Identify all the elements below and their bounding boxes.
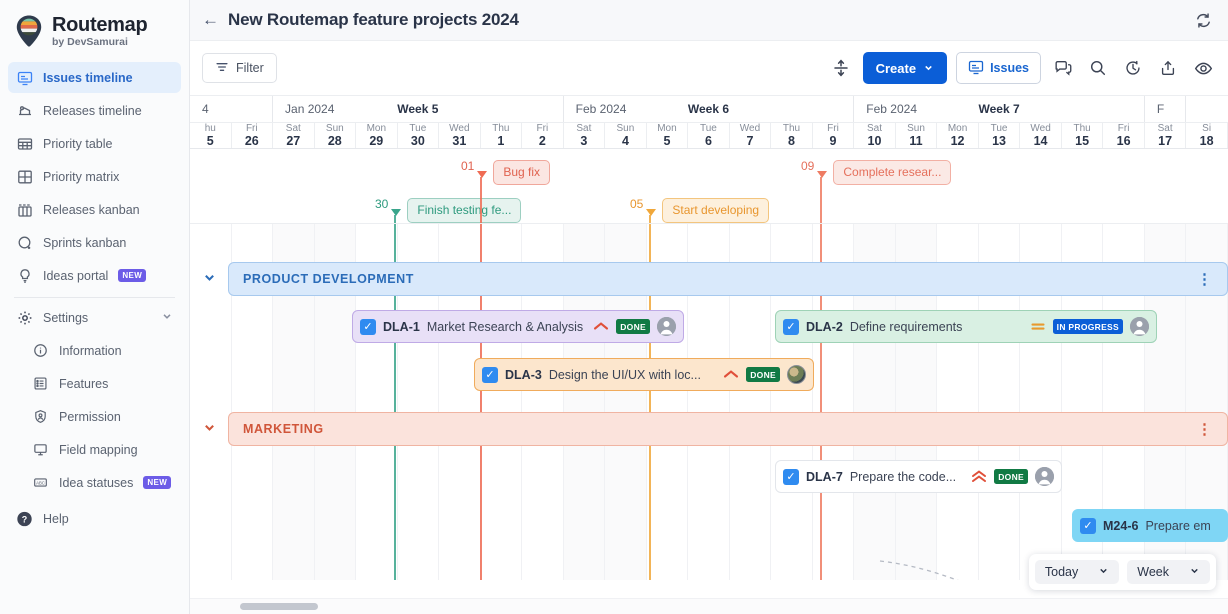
sync-icon[interactable] — [1190, 7, 1216, 33]
settings-subnav: Information Features Permission — [0, 335, 189, 498]
sidebar-help-section: ? Help — [0, 501, 189, 536]
task-summary: Prepare the code... — [850, 470, 956, 484]
task-checkbox-icon[interactable]: ✓ — [783, 469, 799, 485]
more-vertical-icon[interactable]: ⋮ — [1197, 270, 1213, 288]
day-number: 18 — [1200, 134, 1214, 148]
task-summary: Prepare em — [1145, 519, 1210, 533]
search-icon[interactable] — [1085, 55, 1111, 81]
fit-vertical-icon[interactable] — [828, 55, 854, 81]
day-of-week: Fri — [537, 123, 549, 135]
status-badge: DONE — [746, 367, 780, 382]
day-number: 26 — [245, 134, 259, 148]
day-number: 31 — [452, 134, 466, 148]
sidebar-item-label: Permission — [59, 410, 121, 424]
sidebar-item-information[interactable]: Information — [24, 335, 181, 366]
milestone-triangle-icon — [646, 209, 656, 216]
task-summary: Market Research & Analysis — [427, 320, 583, 334]
day-number: 6 — [705, 134, 712, 148]
avatar[interactable] — [1130, 317, 1149, 336]
timeline-day-cell[interactable]: Tue6 — [688, 123, 730, 148]
timeline-day-cell[interactable]: Thu15 — [1062, 123, 1104, 148]
timeline-day-cell[interactable]: Fri16 — [1103, 123, 1145, 148]
today-dropdown[interactable]: Today — [1035, 560, 1119, 584]
day-number: 11 — [909, 134, 922, 148]
status-badge: DONE — [616, 319, 650, 334]
day-of-week: Thu — [492, 123, 509, 135]
day-of-week: Sun — [907, 123, 925, 135]
page-title: New Routemap feature projects 2024 — [228, 10, 519, 30]
task-bar[interactable]: ✓DLA-3Design the UI/UX with loc...DONE — [474, 358, 814, 391]
timeline-day-cell[interactable]: Wed14 — [1020, 123, 1062, 148]
day-of-week: Sat — [576, 123, 591, 135]
timeline-month-cell: 4 — [190, 96, 273, 122]
day-number: 27 — [286, 134, 300, 148]
day-of-week: Wed — [1030, 123, 1050, 135]
day-number: 7 — [746, 134, 753, 148]
sprint-icon — [16, 234, 33, 251]
brand-subtitle: by DevSamurai — [52, 37, 147, 48]
timeline-day-cell[interactable]: Tue30 — [398, 123, 440, 148]
milestone-day: 01 — [461, 160, 474, 172]
day-number: 15 — [1075, 134, 1089, 148]
create-button[interactable]: Create — [863, 52, 947, 84]
sidebar-item-label: Priority matrix — [43, 170, 119, 184]
day-of-week: Mon — [657, 123, 676, 135]
day-number: 1 — [497, 134, 504, 148]
features-list-icon — [32, 375, 49, 392]
sidebar-item-label: Ideas portal — [43, 269, 108, 283]
today-label: Today — [1045, 565, 1078, 579]
day-of-week: hu — [205, 123, 216, 135]
day-number: 29 — [369, 134, 383, 148]
sidebar-item-field-mapping[interactable]: Field mapping — [24, 434, 181, 465]
toolbar: Filter Create — [190, 41, 1228, 96]
sidebar-item-ideas-portal[interactable]: Ideas portal NEW — [8, 260, 181, 291]
toolbar-right: Create Issues — [828, 52, 1216, 84]
day-of-week: Sun — [326, 123, 344, 135]
svg-text:ABC: ABC — [36, 480, 45, 485]
matrix-icon — [16, 168, 33, 185]
zoom-dropdown[interactable]: Week — [1127, 560, 1210, 584]
timeline-day-cell[interactable]: Si18 — [1186, 123, 1228, 148]
filter-button[interactable]: Filter — [202, 53, 277, 83]
milestone-chip[interactable]: Start developing — [662, 198, 769, 223]
timeline-day-cell[interactable]: hu5 — [190, 123, 232, 148]
day-number: 10 — [868, 134, 882, 148]
week-label: Week 6 — [564, 102, 854, 116]
help-circle-icon: ? — [16, 510, 33, 527]
sidebar-item-label: Help — [43, 512, 69, 526]
timeline-day-cell[interactable]: Fri9 — [813, 123, 855, 148]
milestone-marker[interactable]: 05Start developing — [630, 198, 769, 223]
month-label: 4 — [202, 102, 209, 116]
timeline-month-cell: Jan 2024Week 5 — [273, 96, 564, 122]
issues-board-icon — [968, 59, 984, 78]
day-of-week: Fri — [1118, 123, 1130, 135]
chevron-down-icon — [161, 310, 173, 325]
day-number: 8 — [788, 134, 795, 148]
chevron-down-icon — [1189, 565, 1200, 579]
sidebar: Routemap by DevSamurai Issues timeline — [0, 0, 190, 614]
task-key: M24-6 — [1103, 519, 1138, 533]
sidebar-item-features[interactable]: Features — [24, 368, 181, 399]
issues-button[interactable]: Issues — [956, 52, 1041, 84]
app-root: Routemap by DevSamurai Issues timeline — [0, 0, 1228, 614]
svg-text:?: ? — [22, 514, 27, 524]
share-icon[interactable] — [1155, 55, 1181, 81]
filter-label: Filter — [236, 61, 264, 75]
chevron-down-icon[interactable] — [190, 421, 228, 437]
timeline-day-cell[interactable]: Sat10 — [854, 123, 896, 148]
chevron-down-icon[interactable] — [190, 271, 228, 287]
sidebar-item-label: Settings — [43, 311, 88, 325]
day-number: 12 — [951, 134, 965, 148]
day-number: 4 — [622, 134, 629, 148]
high-priority-icon — [593, 321, 609, 332]
day-number: 28 — [328, 134, 342, 148]
sidebar-item-label: Releases kanban — [43, 203, 140, 217]
day-of-week: Sat — [867, 123, 882, 135]
scrollbar-thumb[interactable] — [240, 603, 318, 610]
sidebar-nav: Issues timeline Releases timeline Priori… — [0, 62, 189, 498]
sidebar-item-label: Releases timeline — [43, 104, 142, 118]
milestone-triangle-icon — [817, 171, 827, 178]
timeline-month-cell: Feb 2024Week 6 — [564, 96, 855, 122]
sidebar-item-label: Priority table — [43, 137, 112, 151]
timeline-day-cell[interactable]: Sun4 — [605, 123, 647, 148]
timeline-day-cell[interactable]: Fri26 — [232, 123, 274, 148]
timeline-day-cell[interactable]: Sun11 — [896, 123, 938, 148]
day-of-week: Tue — [700, 123, 717, 135]
task-bar[interactable]: ✓M24-6Prepare em — [1072, 509, 1228, 542]
task-checkbox-icon[interactable]: ✓ — [1080, 518, 1096, 534]
day-of-week: Mon — [367, 123, 386, 135]
day-of-week: Si — [1202, 123, 1211, 135]
milestone-chip[interactable]: Finish testing fe... — [407, 198, 521, 223]
day-number: 17 — [1158, 134, 1172, 148]
milestone-day: 30 — [375, 198, 388, 210]
day-of-week: Wed — [740, 123, 760, 135]
task-checkbox-icon[interactable]: ✓ — [482, 367, 498, 383]
day-number: 30 — [411, 134, 425, 148]
comment-icon[interactable] — [1050, 55, 1076, 81]
sidebar-item-permission[interactable]: Permission — [24, 401, 181, 432]
info-icon — [32, 342, 49, 359]
group-name: MARKETING — [243, 422, 324, 436]
group-name: PRODUCT DEVELOPMENT — [243, 272, 414, 286]
create-label: Create — [876, 61, 916, 76]
milestone-marker[interactable]: 09Complete resear... — [801, 160, 951, 185]
sidebar-item-releases-timeline[interactable]: Releases timeline — [8, 95, 181, 126]
day-of-week: Fri — [246, 123, 258, 135]
timeline-day-cell[interactable]: Sat3 — [564, 123, 606, 148]
timeline-day-cell[interactable]: Wed31 — [439, 123, 481, 148]
task-bar[interactable]: ✓DLA-1Market Research & AnalysisDONE — [352, 310, 684, 343]
milestone-day: 09 — [801, 160, 814, 172]
main-panel: ← New Routemap feature projects 2024 Fil… — [190, 0, 1228, 614]
avatar[interactable] — [787, 365, 806, 384]
day-number: 13 — [992, 134, 1006, 148]
filter-icon — [215, 60, 229, 77]
avatar[interactable] — [657, 317, 676, 336]
sidebar-item-label: Field mapping — [59, 443, 138, 457]
milestone-chip[interactable]: Complete resear... — [833, 160, 951, 185]
sidebar-item-label: Issues timeline — [43, 71, 133, 85]
monitor-icon — [32, 441, 49, 458]
back-arrow-icon[interactable]: ← — [202, 10, 228, 30]
milestone-triangle-icon — [391, 209, 401, 216]
task-summary: Define requirements — [850, 320, 963, 334]
timeline-header: 4Jan 2024Week 5Feb 2024Week 6Feb 2024Wee… — [190, 96, 1228, 149]
group-bar[interactable]: MARKETING⋮ — [228, 412, 1228, 446]
timeline-day-cell[interactable]: Sun28 — [315, 123, 357, 148]
kanban-icon — [16, 201, 33, 218]
day-of-week: Wed — [449, 123, 469, 135]
shield-user-icon — [32, 408, 49, 425]
high-priority-icon — [723, 369, 739, 380]
day-of-week: Sat — [286, 123, 301, 135]
sidebar-item-help[interactable]: ? Help — [8, 503, 181, 534]
gantt-chart: s ... PRODUCT DEVELOPMENT⋮MARKETING⋮ ✓DL… — [190, 224, 1228, 580]
timeline-day-cell[interactable]: Tue13 — [979, 123, 1021, 148]
history-icon[interactable] — [1120, 55, 1146, 81]
milestone-line — [480, 177, 482, 223]
lightbulb-icon — [16, 267, 33, 284]
task-key: DLA-2 — [806, 320, 843, 334]
timeline-day-cell[interactable]: Mon29 — [356, 123, 398, 148]
timeline-month-cell: Feb 2024Week 7 — [854, 96, 1145, 122]
task-key: DLA-3 — [505, 368, 542, 382]
day-number: 5 — [207, 134, 214, 148]
group-bar[interactable]: PRODUCT DEVELOPMENT⋮ — [228, 262, 1228, 296]
month-label: F — [1157, 102, 1164, 116]
task-summary: Design the UI/UX with loc... — [549, 368, 701, 382]
day-of-week: Thu — [783, 123, 800, 135]
milestone-marker[interactable]: 01Bug fix — [461, 160, 550, 185]
abc-icon: ABC — [32, 474, 49, 491]
week-label: Week 5 — [273, 102, 563, 116]
task-key: DLA-7 — [806, 470, 843, 484]
day-of-week: Tue — [409, 123, 426, 135]
timeline-day-cell[interactable]: Mon12 — [937, 123, 979, 148]
task-key: DLA-1 — [383, 320, 420, 334]
day-number: 5 — [663, 134, 670, 148]
sidebar-item-label: Sprints kanban — [43, 236, 126, 250]
timeline-day-cell[interactable]: Sat17 — [1145, 123, 1187, 148]
sidebar-item-sprints-kanban[interactable]: Sprints kanban — [8, 227, 181, 258]
sidebar-divider — [14, 297, 175, 298]
timeline-day-cell[interactable]: Fri2 — [522, 123, 564, 148]
sidebar-item-label: Information — [59, 344, 122, 358]
horizontal-scrollbar[interactable] — [190, 598, 1228, 614]
timeline-day-row: hu5Fri26Sat27Sun28Mon29Tue30Wed31Thu1Fri… — [190, 123, 1228, 148]
more-vertical-icon[interactable]: ⋮ — [1197, 420, 1213, 438]
day-of-week: Tue — [991, 123, 1008, 135]
sidebar-item-priority-table[interactable]: Priority table — [8, 128, 181, 159]
new-badge: NEW — [143, 476, 171, 489]
sidebar-item-issues-timeline[interactable]: Issues timeline — [8, 62, 181, 93]
day-of-week: Sat — [1158, 123, 1173, 135]
zoom-label: Week — [1137, 565, 1169, 579]
timeline-day-cell[interactable]: Sat27 — [273, 123, 315, 148]
day-number: 16 — [1117, 134, 1131, 148]
day-of-week: Thu — [1073, 123, 1090, 135]
status-badge: IN PROGRESS — [1053, 319, 1123, 334]
timeline-day-cell[interactable]: Wed7 — [730, 123, 772, 148]
sidebar-item-releases-kanban[interactable]: Releases kanban — [8, 194, 181, 225]
day-number: 9 — [830, 134, 837, 148]
bottom-controls: Today Week — [1029, 554, 1216, 590]
task-checkbox-icon[interactable]: ✓ — [783, 319, 799, 335]
milestone-line — [394, 215, 396, 223]
avatar[interactable] — [1035, 467, 1054, 486]
milestone-band: 30Finish testing fe...01Bug fix05Start d… — [190, 149, 1228, 224]
table-icon — [16, 135, 33, 152]
gantt-group-row: PRODUCT DEVELOPMENT⋮ — [190, 262, 1228, 296]
day-number: 2 — [539, 134, 546, 148]
medium-priority-icon — [1030, 321, 1046, 332]
issues-label: Issues — [990, 61, 1029, 75]
releases-timeline-icon — [16, 102, 33, 119]
milestone-triangle-icon — [477, 171, 487, 178]
brand-title: Routemap — [52, 15, 147, 35]
highest-priority-icon — [971, 470, 987, 483]
sidebar-item-settings[interactable]: Settings — [8, 302, 181, 333]
task-bar[interactable]: ✓DLA-2Define requirementsIN PROGRESS — [775, 310, 1157, 343]
status-badge: DONE — [994, 469, 1028, 484]
sidebar-item-label: Features — [59, 377, 108, 391]
brand-header[interactable]: Routemap by DevSamurai — [0, 0, 189, 58]
routemap-pin-logo — [14, 14, 44, 48]
eye-icon[interactable] — [1190, 55, 1216, 81]
timeline-day-cell[interactable]: Thu8 — [771, 123, 813, 148]
day-of-week: Sun — [617, 123, 635, 135]
sidebar-item-priority-matrix[interactable]: Priority matrix — [8, 161, 181, 192]
milestone-day: 05 — [630, 198, 643, 210]
milestone-chip[interactable]: Bug fix — [493, 160, 550, 185]
day-number: 3 — [580, 134, 587, 148]
gantt-group-row: MARKETING⋮ — [190, 412, 1228, 446]
milestone-line — [649, 215, 651, 223]
new-badge: NEW — [118, 269, 146, 282]
timeline-day-cell[interactable]: Mon5 — [647, 123, 689, 148]
chevron-down-icon — [923, 61, 934, 76]
week-label: Week 7 — [854, 102, 1144, 116]
milestone-marker[interactable]: 30Finish testing fe... — [375, 198, 521, 223]
sidebar-item-label: Idea statuses — [59, 476, 133, 490]
timeline-month-cell: F — [1145, 96, 1187, 122]
task-bar[interactable]: ✓DLA-7Prepare the code...DONE — [775, 460, 1062, 493]
timeline-month-row: 4Jan 2024Week 5Feb 2024Week 6Feb 2024Wee… — [190, 96, 1228, 123]
timeline-day-cell[interactable]: Thu1 — [481, 123, 523, 148]
timeline-icon — [16, 69, 33, 86]
sidebar-item-idea-statuses[interactable]: ABC Idea statuses NEW — [24, 467, 181, 498]
page-header: ← New Routemap feature projects 2024 — [190, 0, 1228, 41]
chevron-down-icon — [1098, 565, 1109, 579]
task-checkbox-icon[interactable]: ✓ — [360, 319, 376, 335]
day-of-week: Mon — [948, 123, 967, 135]
milestone-line — [820, 177, 822, 223]
gear-icon — [16, 309, 33, 326]
day-number: 14 — [1034, 134, 1048, 148]
day-of-week: Fri — [827, 123, 839, 135]
